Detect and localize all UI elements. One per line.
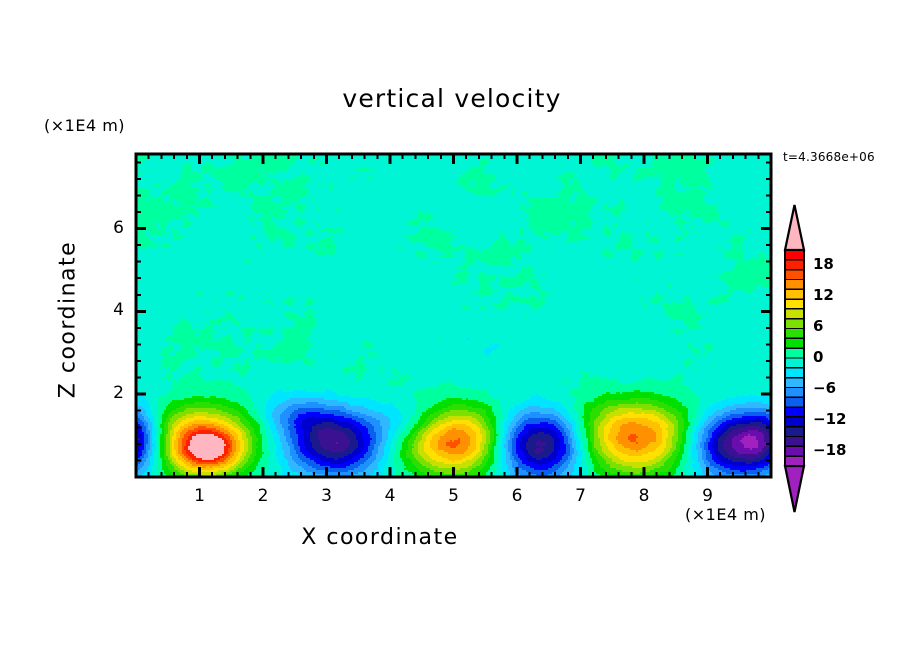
x-tick-label: 4	[370, 486, 410, 506]
colorbar-tick-label: 6	[813, 317, 823, 335]
x-tick-label: 2	[243, 486, 283, 506]
colorbar-tick-label: −6	[813, 379, 836, 397]
page-title: vertical velocity	[0, 84, 904, 113]
contour-plot-figure: vertical velocity (×1E4 m) (×1E4 m) t=4.…	[0, 0, 904, 654]
y-axis-title: Z coordinate	[56, 210, 81, 430]
y-tick-label: 4	[90, 300, 124, 320]
x-tick-label: 1	[180, 486, 220, 506]
x-tick-label: 3	[307, 486, 347, 506]
x-tick-label: 5	[434, 486, 474, 506]
colorbar-tick-label: −12	[813, 410, 846, 428]
x-axis-title: X coordinate	[0, 525, 760, 550]
colorbar-tick-label: 12	[813, 286, 834, 304]
y-axis-unit-label: (×1E4 m)	[44, 116, 125, 135]
x-tick-label: 8	[624, 486, 664, 506]
y-tick-label: 2	[90, 383, 124, 403]
y-tick-label: 6	[90, 218, 124, 238]
x-tick-label: 7	[561, 486, 601, 506]
x-tick-label: 6	[497, 486, 537, 506]
x-tick-label: 9	[688, 486, 728, 506]
time-stamp-label: t=4.3668e+06	[783, 150, 875, 164]
x-axis-unit-label: (×1E4 m)	[685, 505, 766, 524]
colorbar-tick-label: 0	[813, 348, 823, 366]
colorbar-tick-label: 18	[813, 255, 834, 273]
colorbar-tick-label: −18	[813, 441, 846, 459]
